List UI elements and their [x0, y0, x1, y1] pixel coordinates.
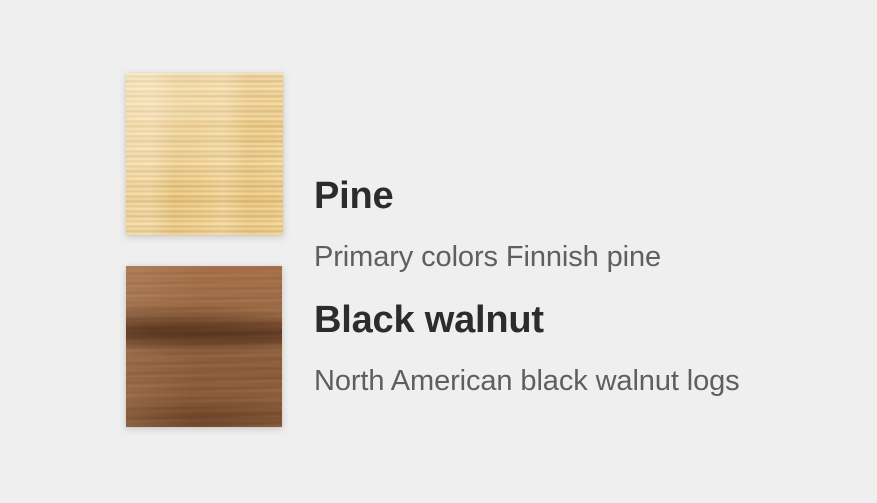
material-title: Pine: [314, 176, 393, 216]
pine-wood-swatch[interactable]: [126, 73, 283, 235]
material-options-list: Pine Primary colors Finnish pine Black w…: [0, 0, 877, 503]
material-title: Black walnut: [314, 300, 544, 340]
pine-wood-texture: [126, 73, 283, 235]
material-subtitle: North American black walnut logs: [314, 364, 740, 398]
material-subtitle: Primary colors Finnish pine: [314, 240, 661, 274]
black-walnut-wood-swatch[interactable]: [126, 266, 282, 427]
black-walnut-wood-texture: [126, 266, 282, 427]
